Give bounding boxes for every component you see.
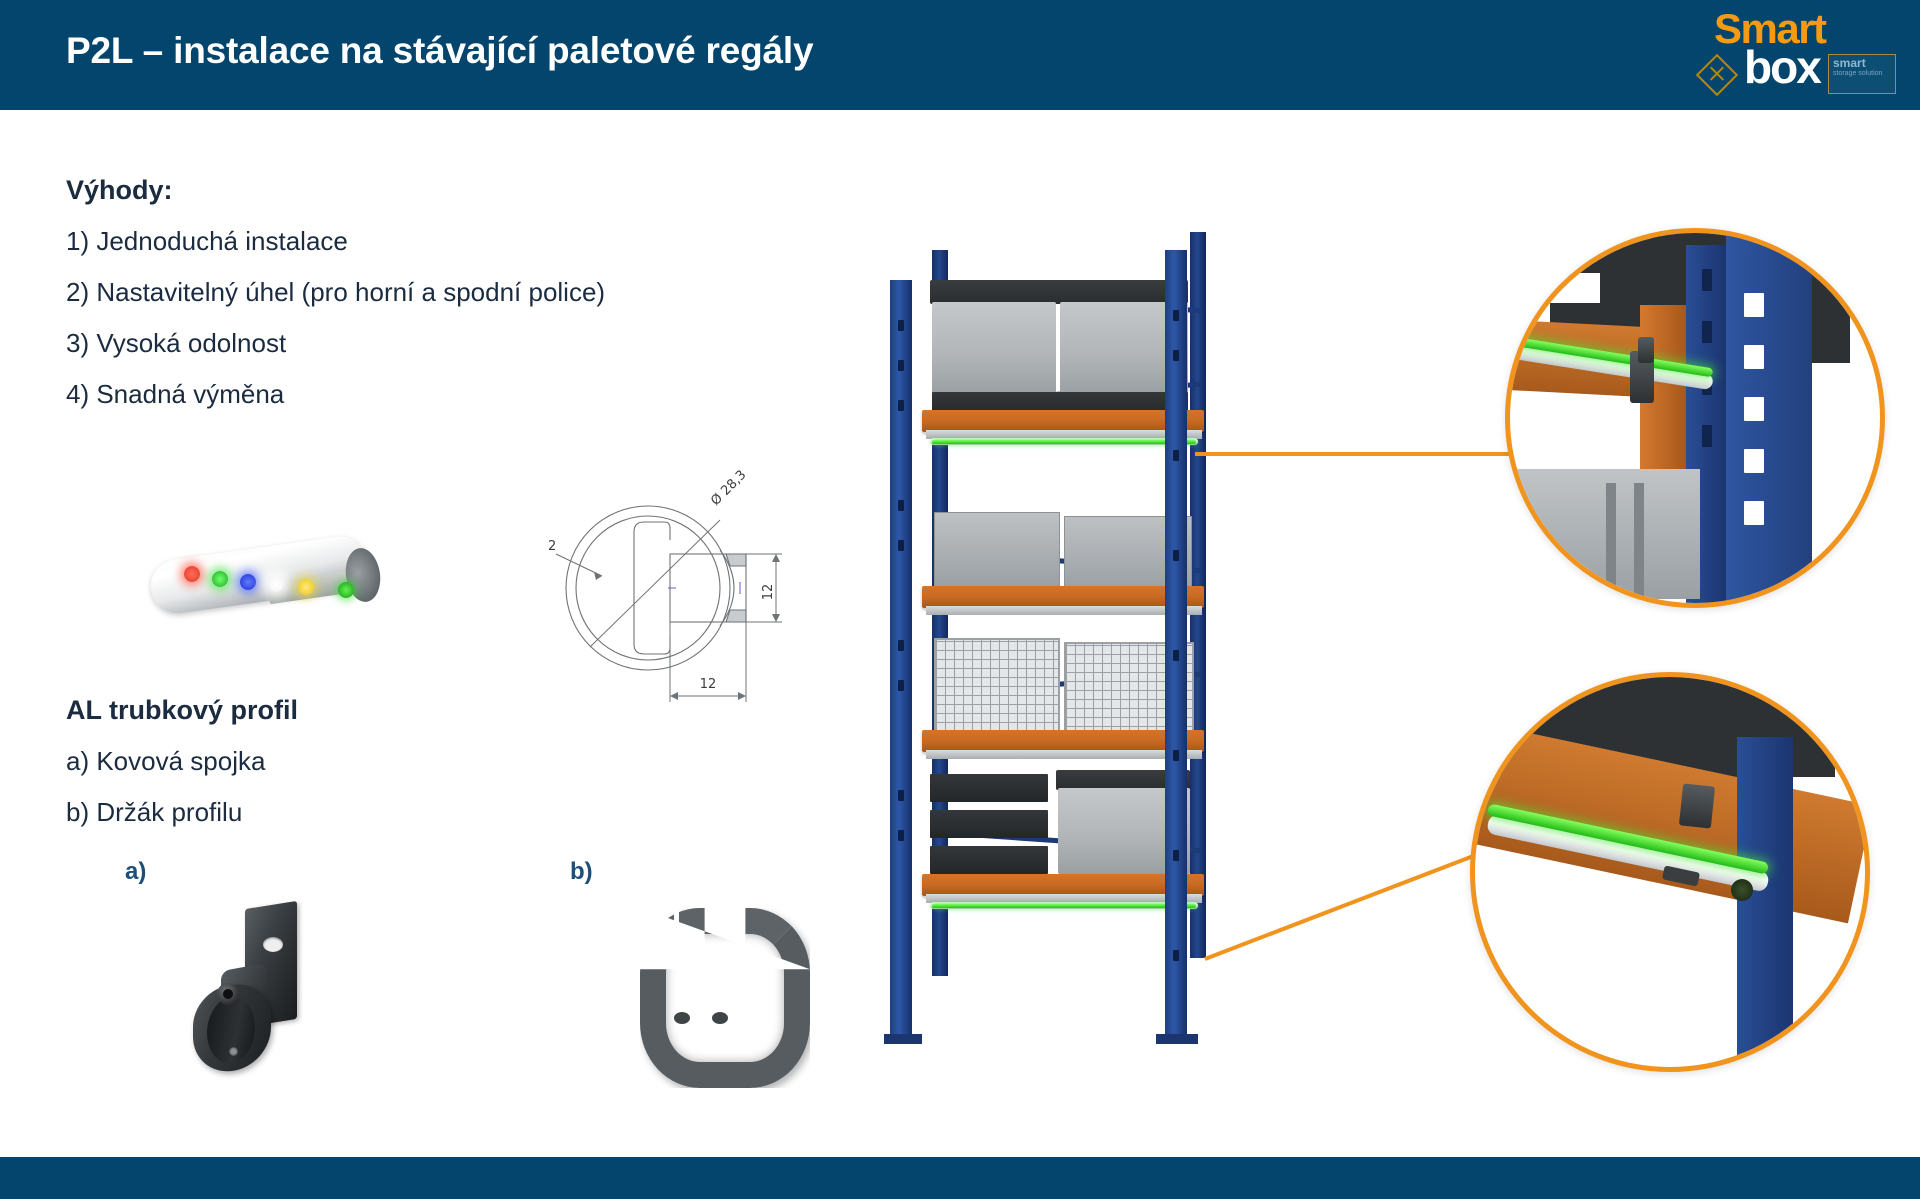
profile-cross-section-drawing: Ø 28,3 2 12 12 [520,462,820,712]
dark-pallet [930,846,1048,874]
rack-foot [884,1034,922,1044]
led-profile-glow [932,440,1196,444]
label-a: a) [125,858,146,886]
upright-slot [1173,550,1179,561]
led-profile-glow [932,904,1196,908]
mesh-cage [934,638,1060,734]
rack-deck [926,606,1202,615]
upright-slot [1173,750,1179,761]
upright-slot [898,320,904,331]
label-b: b) [570,858,593,886]
crate-lid [930,280,1188,304]
led-dot-blue [240,574,256,590]
inner-circle [576,516,720,660]
list-item: 2) Nastavitelný úhel (pro horní a spodní… [66,279,605,305]
logo-tagline-box: smart storage solution [1828,54,1896,94]
logo-tagline-1: smart [1833,57,1866,69]
rack-deck [926,750,1202,759]
led-dot-red [184,566,200,582]
led-tube-photo [150,520,400,630]
co-upright-slot [1744,345,1764,369]
dim-diameter: Ø 28,3 [708,468,749,509]
advantages-heading: Výhody: [66,175,173,206]
dim-height: 12 [761,584,776,601]
rack-upright-front-right [1165,250,1187,1040]
callout-detail-top [1505,228,1885,608]
holder-tab-right [712,1012,728,1024]
holder-gap-left [674,904,679,934]
bracket-pivot-hole [223,989,233,999]
holder-tab-left [674,1012,690,1024]
logo-tagline-2: storage solution [1833,70,1882,77]
bracket-set-screw [229,1047,238,1056]
upright-slot [1173,850,1179,861]
upright-slot [898,500,904,511]
co-void [1505,273,1600,303]
rack-beam [922,586,1204,608]
holder-gap-right [722,904,727,934]
upright-slot [898,790,904,801]
outer-circle [566,506,730,670]
led-dot-green-2 [338,582,354,598]
pallet-rack-illustration [890,250,1310,1040]
page-footer [0,1157,1920,1199]
co-upright-slot-dark [1702,269,1712,291]
smartbox-logo: Smart box smart storage solution [1688,8,1898,100]
list-item: b) Držák profilu [66,799,265,825]
rack-beam [922,874,1204,896]
co-upright-slot [1744,449,1764,473]
co-upright-slot [1744,397,1764,421]
list-item: 1) Jednoduchá instalace [66,228,605,254]
page-title: P2L – instalace na stávající paletové re… [66,30,813,72]
co-tray-post [1634,483,1644,601]
led-dot-green [212,571,228,587]
upright-slot [898,400,904,411]
upright-slot [898,680,904,691]
co-clamp-bracket [1638,337,1654,363]
co-upright-face [1726,233,1812,605]
co-tray-post [1606,483,1616,601]
list-item: 4) Snadná výměna [66,381,605,407]
chevron-left-icon [1828,55,1829,93]
co-upright-slot [1744,293,1764,317]
upright-slot [898,640,904,651]
upright-slot [1173,950,1179,961]
rack-upright-front-left [890,280,912,1040]
upright-slot [898,360,904,371]
upright-slot [1173,350,1179,361]
rack-beam [922,410,1204,432]
logo-word-box: box [1744,44,1820,90]
upright-slot [1173,450,1179,461]
led-dot-yellow [298,579,314,595]
co-tube-clamp [1679,783,1715,828]
co-upright-slot-dark [1702,321,1712,343]
profile-heading: AL trubkový profil [66,695,298,726]
co-upright-face [1737,737,1793,1067]
dark-pallet [930,810,1048,838]
dim-width: 12 [700,677,717,692]
profile-list: a) Kovová spojka b) Držák profilu [66,748,265,850]
co-upright-slot [1744,501,1764,525]
profile-holder-photo [630,900,780,1060]
plus-diamond-icon [1696,54,1738,96]
list-item: a) Kovová spojka [66,748,265,774]
callout-leader-top [1195,452,1513,456]
co-metal-tray [1505,469,1700,599]
upright-slot [898,540,904,551]
list-item: 3) Vysoká odolnost [66,330,605,356]
co-upright-slot-dark [1702,425,1712,447]
advantages-list: 1) Jednoduchá instalace 2) Nastavitelný … [66,228,605,432]
callout-detail-bottom [1470,672,1870,1072]
page-header: P2L – instalace na stávající paletové re… [0,0,1920,110]
rack-beam [922,730,1204,752]
led-dot-white [268,576,284,592]
rack-foot [1156,1034,1198,1044]
diameter-leader [590,520,720,647]
holder-clip-ring [640,908,810,1088]
metal-tray [934,512,1060,588]
bracket-mounting-hole [263,937,283,952]
upright-slot [898,830,904,841]
dark-pallet [930,774,1048,802]
dim-wall: 2 [548,539,556,554]
co-tube-endcap [1731,879,1753,901]
pallet-box [932,302,1056,394]
upright-slot [1173,650,1179,661]
metal-connector-photo [185,905,335,1075]
upright-slot [1173,310,1179,321]
